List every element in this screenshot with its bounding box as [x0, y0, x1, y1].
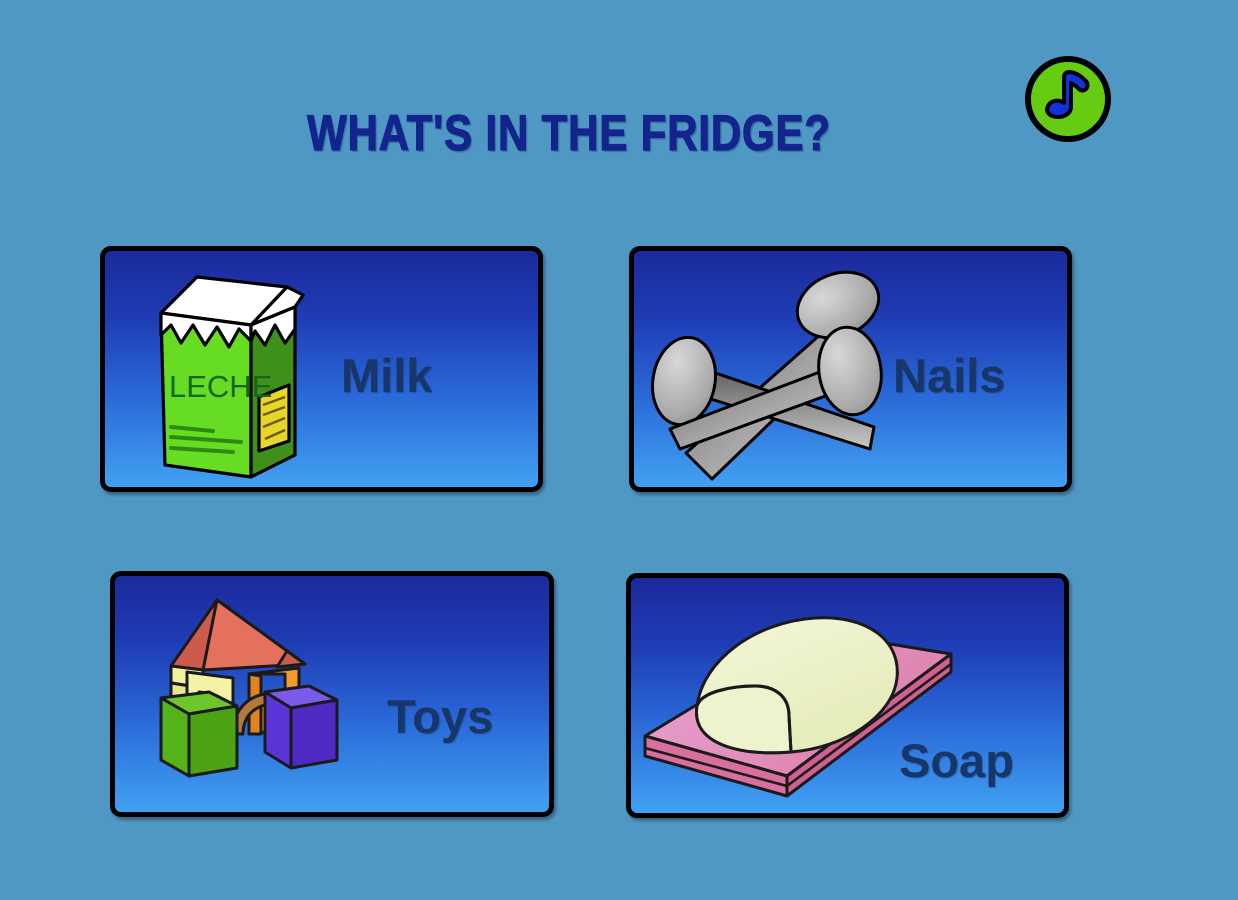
- choice-card-milk[interactable]: LECHE Milk: [100, 246, 543, 492]
- svg-text:LECHE: LECHE: [169, 369, 272, 404]
- choice-label-nails: Nails: [893, 348, 1005, 403]
- building-blocks-icon: [137, 582, 352, 797]
- milk-carton-icon: LECHE: [155, 269, 315, 485]
- choice-card-soap[interactable]: Soap: [626, 573, 1069, 818]
- choice-label-toys: Toys: [387, 689, 493, 744]
- choice-label-milk: Milk: [341, 348, 432, 403]
- choice-card-toys[interactable]: Toys: [110, 571, 554, 817]
- nails-icon: [642, 253, 910, 492]
- music-toggle-button[interactable]: [1024, 55, 1112, 143]
- choice-label-soap: Soap: [899, 733, 1014, 788]
- music-note-icon: [1024, 55, 1112, 143]
- page-title: WHAT'S IN THE FRIDGE?: [91, 104, 1047, 162]
- choice-card-nails[interactable]: Nails: [629, 246, 1072, 492]
